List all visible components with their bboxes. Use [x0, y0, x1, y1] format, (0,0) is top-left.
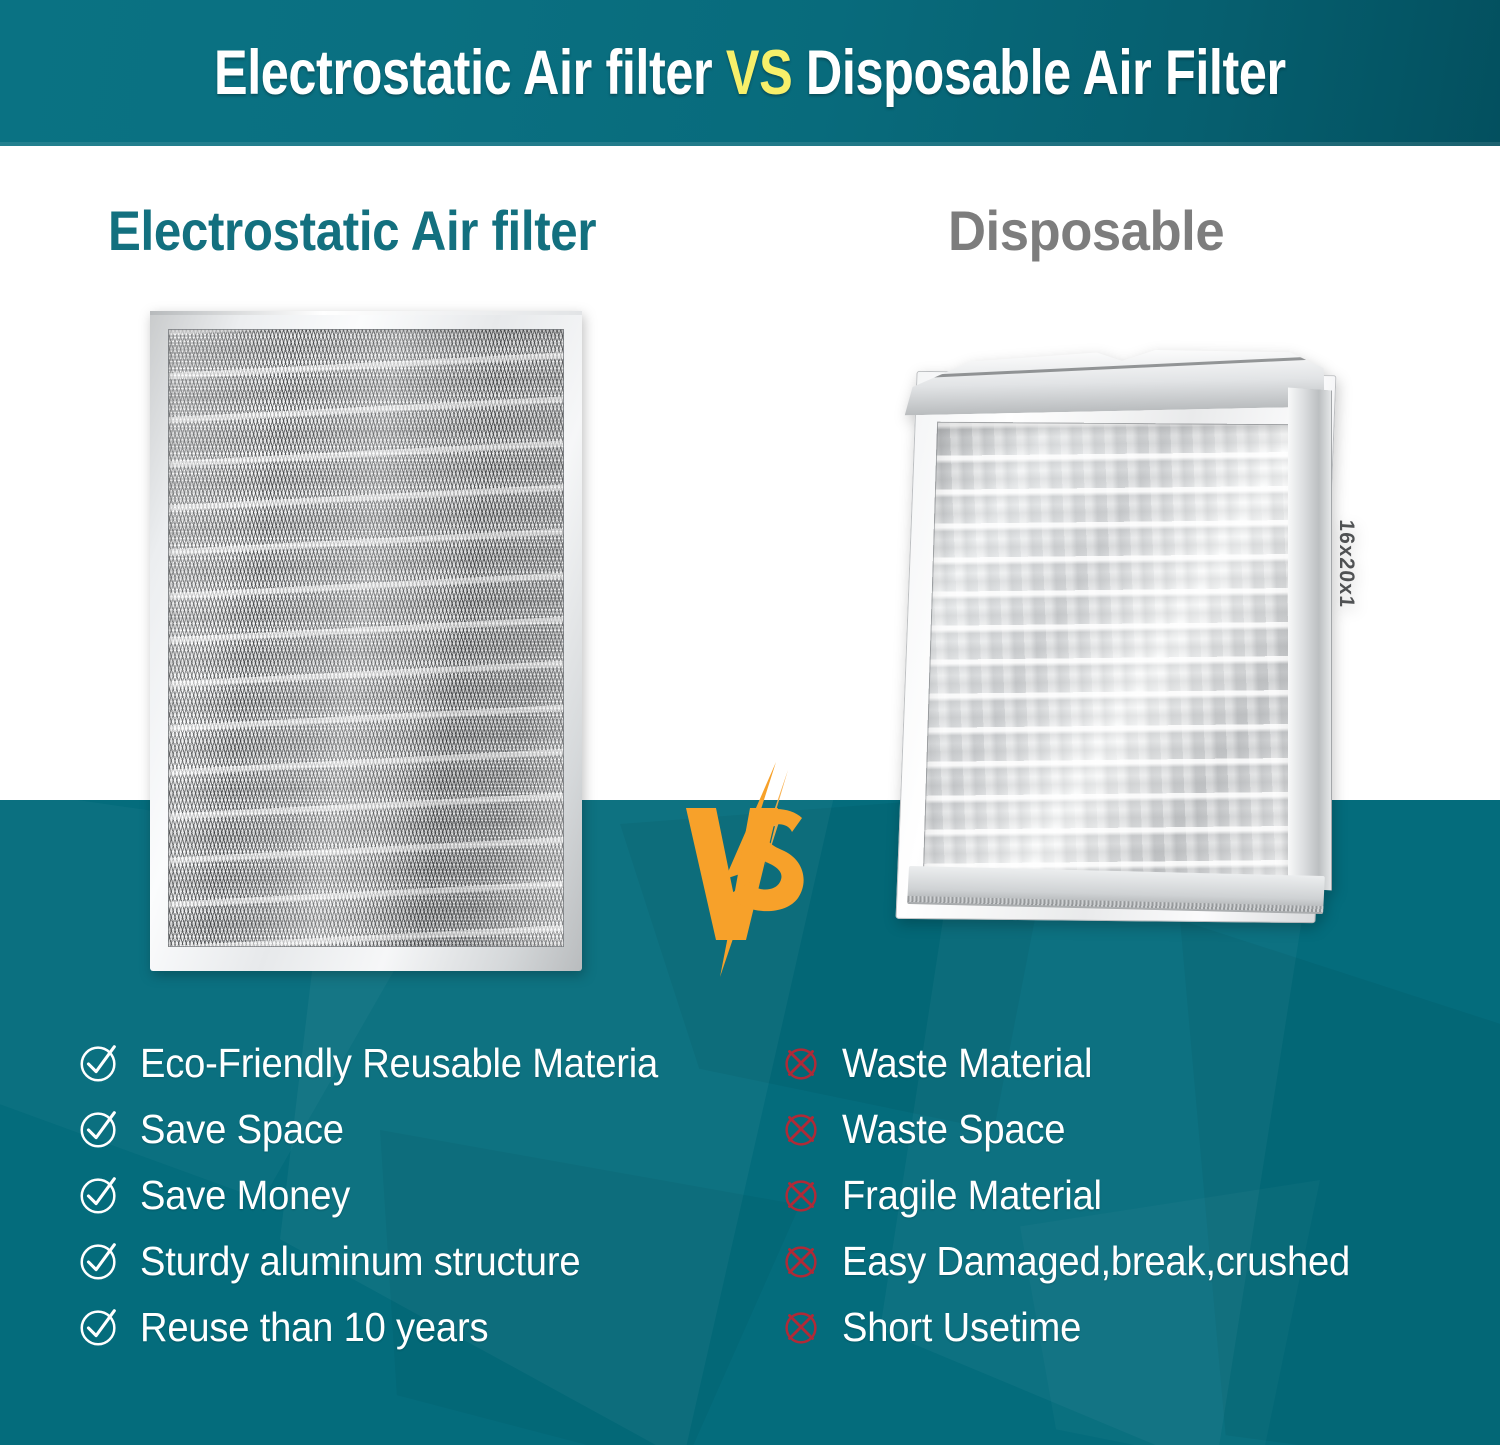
list-item: Save Money: [76, 1162, 776, 1228]
list-item-label: Short Usetime: [842, 1304, 1081, 1351]
page-title: Electrostatic Air filter VS Disposable A…: [214, 37, 1286, 109]
list-item: Waste Material: [778, 1030, 1478, 1096]
page-title-part-1: Electrostatic Air filter: [214, 38, 726, 108]
left-column-heading: Electrostatic Air filter: [108, 198, 596, 263]
list-item-label: Waste Material: [842, 1040, 1092, 1087]
check-circle-icon: [76, 1304, 122, 1350]
vs-badge: [680, 762, 820, 977]
list-item-label: Eco-Friendly Reusable Materia: [140, 1040, 658, 1087]
vs-badge-graphic: [680, 762, 820, 977]
list-item-label: Reuse than 10 years: [140, 1304, 488, 1351]
list-item: Waste Space: [778, 1096, 1478, 1162]
page-title-part-2: Disposable Air Filter: [792, 38, 1285, 108]
header-banner: Electrostatic Air filter VS Disposable A…: [0, 0, 1500, 146]
pros-list: Eco-Friendly Reusable Materia Save Space…: [76, 1030, 776, 1360]
cons-list: Waste Material Waste Space Fragile Mater…: [778, 1030, 1478, 1360]
mesh-sheen-overlay: [168, 329, 564, 947]
x-circle-icon: [778, 1172, 824, 1218]
check-circle-icon: [76, 1238, 122, 1284]
filter-size-label: 16x20x1: [1332, 519, 1358, 671]
disposable-top-lip: [903, 343, 1324, 416]
list-item-label: Save Space: [140, 1106, 344, 1153]
feature-lists: Eco-Friendly Reusable Materia Save Space…: [0, 1030, 1500, 1420]
list-item: Reuse than 10 years: [76, 1294, 776, 1360]
list-item-label: Waste Space: [842, 1106, 1065, 1153]
list-item-label: Easy Damaged,break,crushed: [842, 1238, 1350, 1285]
list-item: Easy Damaged,break,crushed: [778, 1228, 1478, 1294]
list-item: Fragile Material: [778, 1162, 1478, 1228]
x-circle-icon: [778, 1304, 824, 1350]
disposable-side-panel: 16x20x1: [1288, 387, 1332, 890]
check-circle-icon: [76, 1172, 122, 1218]
list-item: Save Space: [76, 1096, 776, 1162]
disposable-filter-image: 16x20x1: [896, 345, 1336, 923]
check-circle-icon: [76, 1040, 122, 1086]
check-circle-icon: [76, 1106, 122, 1152]
list-item-label: Fragile Material: [842, 1172, 1102, 1219]
list-item: Short Usetime: [778, 1294, 1478, 1360]
page-title-vs: VS: [726, 38, 792, 108]
disposable-fiberglass-media: [923, 422, 1303, 877]
x-circle-icon: [778, 1106, 824, 1152]
x-circle-icon: [778, 1238, 824, 1284]
x-circle-icon: [778, 1040, 824, 1086]
list-item-label: Sturdy aluminum structure: [140, 1238, 580, 1285]
electrostatic-filter-image: [150, 311, 582, 971]
list-item-label: Save Money: [140, 1172, 350, 1219]
list-item: Sturdy aluminum structure: [76, 1228, 776, 1294]
right-column-heading: Disposable: [948, 198, 1224, 263]
filter-mesh-area: [168, 329, 564, 947]
list-item: Eco-Friendly Reusable Materia: [76, 1030, 776, 1096]
